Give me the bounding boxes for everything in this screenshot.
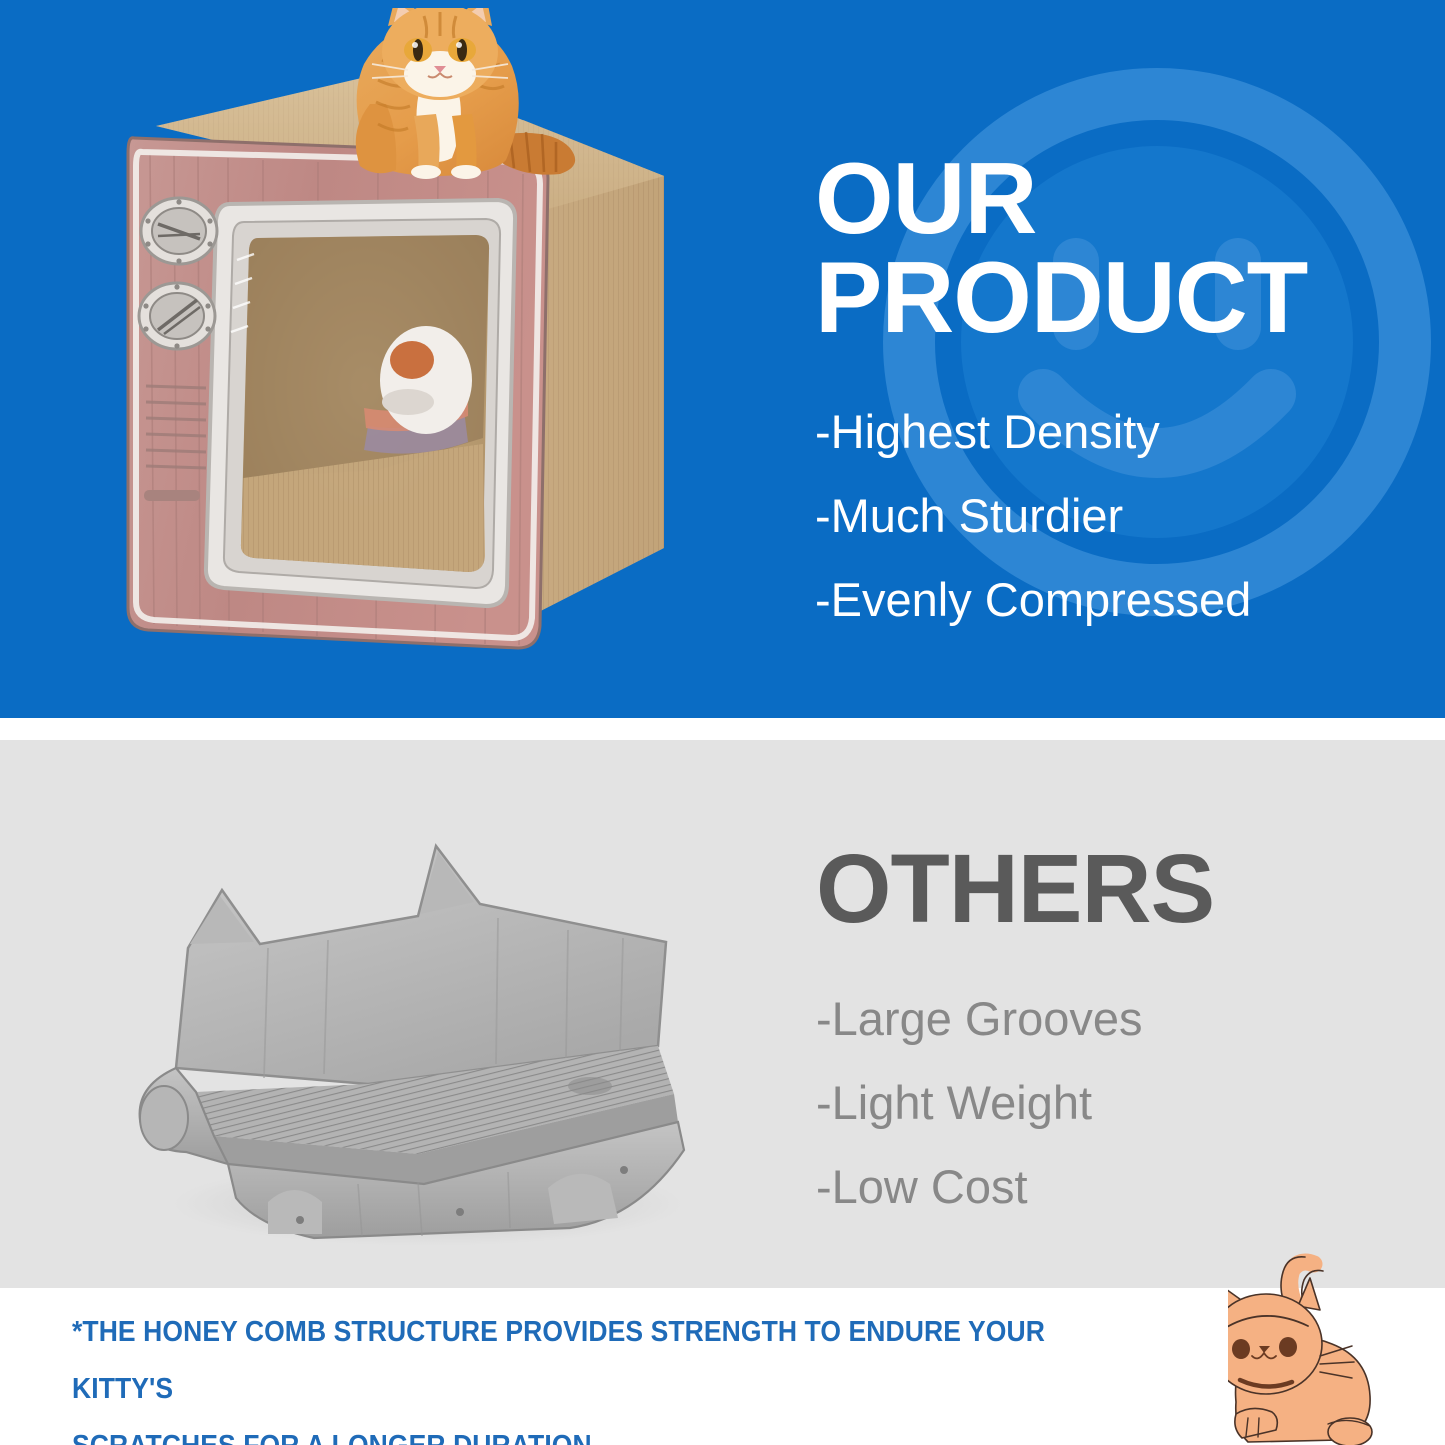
others-bullet-list: -Large Grooves -Light Weight -Low Cost: [816, 995, 1416, 1210]
our-product-text-block: OUR PRODUCT -Highest Density -Much Sturd…: [815, 150, 1415, 660]
others-panel: OTHERS -Large Grooves -Light Weight -Low…: [0, 740, 1445, 1288]
others-bullet-2: -Light Weight: [816, 1079, 1416, 1126]
others-bullet-3: -Low Cost: [816, 1163, 1416, 1210]
our-product-bullet-1: -Highest Density: [815, 408, 1415, 455]
our-product-bullet-2: -Much Sturdier: [815, 492, 1415, 539]
others-text-block: OTHERS -Large Grooves -Light Weight -Low…: [816, 840, 1416, 1247]
retro-tv-scratcher-product-image: [78, 8, 698, 708]
cartoon-cat-mascot-icon: [1228, 1252, 1445, 1445]
our-product-bullet-list: -Highest Density -Much Sturdier -Evenly …: [815, 408, 1415, 623]
others-bullet-1: -Large Grooves: [816, 995, 1416, 1042]
others-heading: OTHERS: [816, 840, 1416, 937]
our-product-panel: OUR PRODUCT -Highest Density -Much Sturd…: [0, 0, 1445, 718]
gray-scratcher-product-image: [118, 832, 728, 1252]
footer-note-line2: SCRATCHES FOR A LONGER DURATION.: [72, 1418, 1104, 1445]
our-product-heading-line1: OUR: [815, 150, 1415, 249]
our-product-bullet-3: -Evenly Compressed: [815, 576, 1415, 623]
footer-note-line1: *THE HONEY COMB STRUCTURE PROVIDES STREN…: [72, 1304, 1104, 1418]
footer-disclaimer-note: *THE HONEY COMB STRUCTURE PROVIDES STREN…: [72, 1304, 1104, 1445]
product-comparison-infographic: OUR PRODUCT -Highest Density -Much Sturd…: [0, 0, 1445, 1445]
our-product-heading-line2: PRODUCT: [815, 249, 1415, 348]
